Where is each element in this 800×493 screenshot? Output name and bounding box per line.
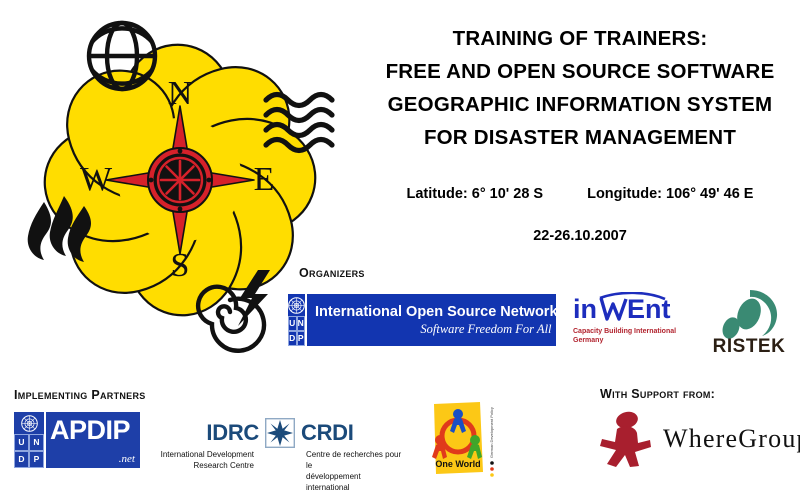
undp-letter-u: U <box>14 434 29 451</box>
compass-label-west: W <box>80 161 113 198</box>
idrc-tagline-fr-line1: Centre de recherches pour le <box>306 449 405 471</box>
title-line-3: GEOGRAPHIC INFORMATION SYSTEM <box>360 88 800 121</box>
implementing-partners-caption: Implementing Partners <box>14 388 146 402</box>
wheregroup-figure-icon <box>597 410 653 468</box>
inwent-logo: in Ent Capacity Building International G… <box>573 292 687 350</box>
oneworld-logo: One World German Development Policy <box>428 400 500 480</box>
undp-letter-u: U <box>288 316 297 331</box>
inwent-subtitle-line2: Germany <box>573 336 687 345</box>
idrc-tagline-en-line1: International Development <box>155 449 254 460</box>
title-line-2: FREE AND OPEN SOURCE SOFTWARE <box>360 55 800 88</box>
page-title: TRAINING OF TRAINERS: FREE AND OPEN SOUR… <box>360 22 800 154</box>
idrc-tagline-fr-line2: développement international <box>306 471 405 493</box>
oneworld-wordmark: One World <box>435 459 480 469</box>
idrc-tagline-fr: Centre de recherches pour le développeme… <box>280 449 405 479</box>
organizers-caption: Organizers <box>299 266 365 280</box>
undp-badge: U N D P <box>14 412 46 468</box>
iosn-tagline: Software Freedom For All <box>315 321 558 337</box>
crdi-wordmark: CRDI <box>301 421 354 445</box>
longitude-value: Longitude: 106° 49' 46 E <box>587 186 753 202</box>
un-emblem-icon <box>14 412 44 434</box>
undp-letter-d: D <box>288 331 297 346</box>
undp-badge: U N D P <box>288 294 307 346</box>
iosn-logo: U N D P International Open Source Networ… <box>288 294 556 346</box>
idrc-tagline-en-line2: Research Centre <box>155 460 254 471</box>
latitude-value: Latitude: 6° 10' 28 S <box>407 186 544 202</box>
event-date: 22-26.10.2007 <box>360 228 800 244</box>
idrc-tagline-en: International Development Research Centr… <box>155 449 280 479</box>
compass-label-north: N <box>168 75 193 112</box>
undp-letter-n: N <box>297 316 306 331</box>
apdip-net-suffix: .net <box>119 453 135 465</box>
idrc-star-icon <box>265 418 295 448</box>
coordinates-row: Latitude: 6° 10' 28 S Longitude: 106° 49… <box>360 186 800 202</box>
compass-label-south: S <box>171 247 190 284</box>
apdip-logo: U N D P APDIP .net <box>14 412 140 468</box>
wheregroup-wordmark: WhereGroup <box>663 424 800 454</box>
apdip-wordmark: APDIP <box>50 415 130 445</box>
inwent-subtitle: Capacity Building International Germany <box>573 327 687 345</box>
ristek-logo: RISTEK <box>706 286 792 356</box>
svg-text:in: in <box>573 294 597 324</box>
iosn-title: International Open Source Network <box>315 304 558 321</box>
oneworld-vertical-text: German Development Policy <box>489 407 494 458</box>
poster-canvas: N W E S TRAINING OF TRAINERS: FREE AND O… <box>0 0 800 486</box>
compass-label-east: E <box>254 161 275 198</box>
title-line-4: FOR DISASTER MANAGEMENT <box>360 121 800 154</box>
undp-letter-p: P <box>29 451 44 468</box>
undp-letter-d: D <box>14 451 29 468</box>
idrc-crdi-logo: IDRC CRDI <box>155 418 405 480</box>
undp-letter-p: P <box>297 331 306 346</box>
wheregroup-logo: WhereGroup <box>597 408 797 470</box>
idrc-wordmark: IDRC <box>206 421 259 445</box>
un-emblem-icon <box>288 294 305 316</box>
ristek-swirl-icon <box>719 290 777 341</box>
inwent-subtitle-line1: Capacity Building International <box>573 327 687 336</box>
inwent-wordmark: in Ent <box>573 292 687 326</box>
with-support-from-caption: With Support from: <box>600 387 715 401</box>
oneworld-dots-icon <box>490 461 494 477</box>
svg-text:Ent: Ent <box>627 294 671 324</box>
ristek-wordmark: RISTEK <box>713 336 786 356</box>
title-line-1: TRAINING OF TRAINERS: <box>360 22 800 55</box>
undp-letter-n: N <box>29 434 44 451</box>
